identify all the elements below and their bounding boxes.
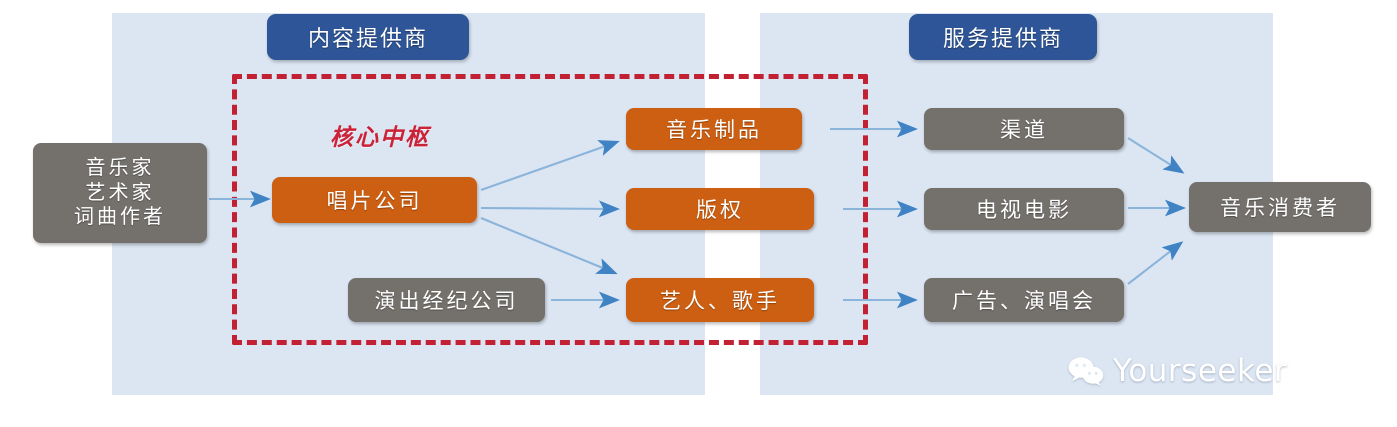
watermark: Yourseeker (1068, 353, 1287, 389)
node-artists-singers[interactable]: 艺人、歌手 (626, 278, 814, 322)
header-content-provider[interactable]: 内容提供商 (267, 14, 469, 60)
wechat-icon (1068, 356, 1104, 386)
node-label-company-label: 唱片公司 (327, 185, 423, 215)
node-ads-concerts[interactable]: 广告、演唱会 (924, 278, 1124, 322)
node-creators-line-2: 艺术家 (86, 181, 155, 205)
node-copyright[interactable]: 版权 (626, 188, 814, 230)
node-music-consumers[interactable]: 音乐消费者 (1189, 182, 1371, 232)
node-music-products[interactable]: 音乐制品 (626, 108, 802, 150)
header-content-provider-label: 内容提供商 (308, 21, 428, 53)
node-tv-film[interactable]: 电视电影 (924, 188, 1124, 230)
watermark-text: Yourseeker (1113, 353, 1287, 389)
node-ads-concerts-label: 广告、演唱会 (952, 285, 1096, 315)
node-copyright-label: 版权 (696, 194, 744, 224)
node-creators-line-3: 词曲作者 (74, 205, 166, 229)
node-performance-agency[interactable]: 演出经纪公司 (348, 278, 545, 322)
node-creators[interactable]: 音乐家 艺术家 词曲作者 (33, 143, 207, 243)
node-music-consumers-label: 音乐消费者 (1220, 192, 1340, 222)
node-performance-agency-label: 演出经纪公司 (375, 285, 519, 315)
node-channel[interactable]: 渠道 (924, 108, 1124, 150)
node-creators-line-1: 音乐家 (86, 156, 155, 180)
header-service-provider-label: 服务提供商 (943, 21, 1063, 53)
node-music-products-label: 音乐制品 (666, 114, 762, 144)
diagram-canvas: 内容提供商 服务提供商 核心中枢 音乐家 艺术家 词曲作者 唱片公司 演出经纪公… (0, 0, 1397, 427)
node-tv-film-label: 电视电影 (976, 194, 1072, 224)
core-hub-annotation: 核心中枢 (330, 118, 430, 152)
node-channel-label: 渠道 (1000, 114, 1048, 144)
node-artists-singers-label: 艺人、歌手 (660, 285, 780, 315)
node-label-company[interactable]: 唱片公司 (272, 177, 477, 223)
header-service-provider[interactable]: 服务提供商 (909, 14, 1097, 60)
